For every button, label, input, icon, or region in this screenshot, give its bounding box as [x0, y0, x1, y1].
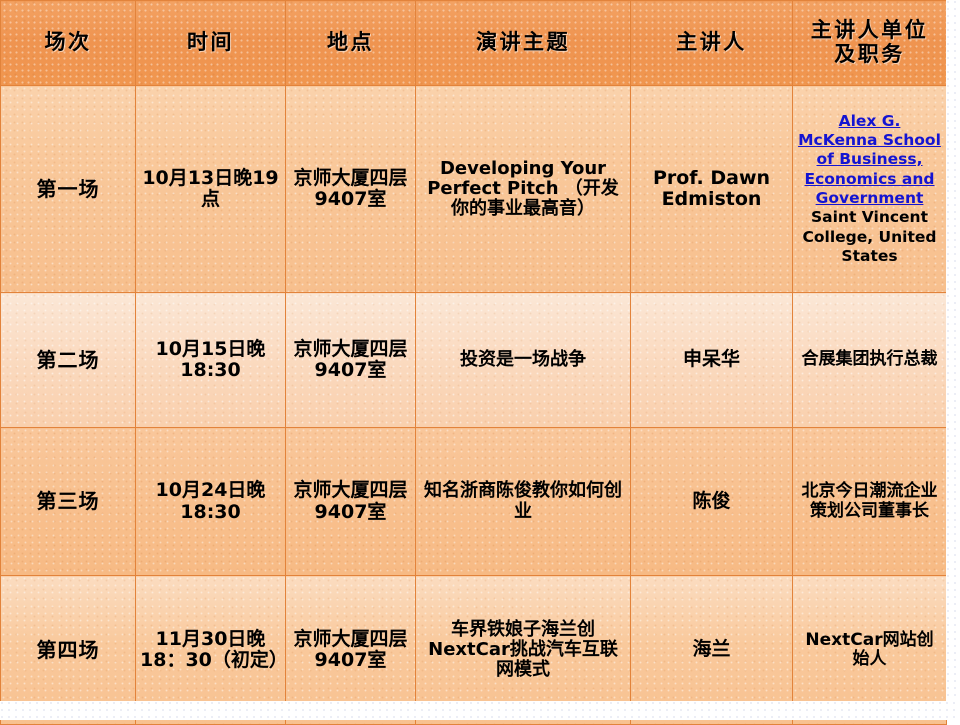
column-header-session: 场次	[1, 1, 136, 86]
slide-canvas: 场次 时间 地点 演讲主题 主讲人 主讲人单位 及职务 第一场 10月13日晚1…	[0, 0, 960, 720]
cell-venue: 京师大厦四层9407室	[286, 86, 416, 293]
cell-speaker: 申呆华	[631, 293, 793, 428]
cell-session: 第一场	[1, 86, 136, 293]
cell-organization: Alex G. McKenna School of Business, Econ…	[793, 86, 947, 293]
cell-organization: 合展集团执行总裁	[793, 293, 947, 428]
organization-link[interactable]: Alex G. McKenna School of Business, Econ…	[798, 112, 941, 208]
cell-speaker: Prof. Dawn Edmiston	[631, 86, 793, 293]
table-row: 第二场 10月15日晚18:30 京师大厦四层9407室 投资是一场战争 申呆华…	[1, 293, 947, 428]
cell-organization: 北京今日潮流企业策划公司董事长	[793, 428, 947, 576]
organization-text: Saint Vincent College, United States	[802, 208, 936, 265]
cell-speaker: 陈俊	[631, 428, 793, 576]
column-header-organization-line2: 及职务	[834, 42, 905, 66]
column-header-organization-line1: 主讲人单位	[811, 18, 929, 42]
column-header-topic: 演讲主题	[416, 1, 631, 86]
canvas-right-margin	[946, 0, 960, 720]
cell-venue: 京师大厦四层9407室	[286, 428, 416, 576]
cell-topic: Developing Your Perfect Pitch （开发你的事业最高音…	[416, 86, 631, 293]
table-row: 第三场 10月24日晚18:30 京师大厦四层9407室 知名浙商陈俊教你如何创…	[1, 428, 947, 576]
column-header-organization: 主讲人单位 及职务	[793, 1, 947, 86]
lecture-schedule-table: 场次 时间 地点 演讲主题 主讲人 主讲人单位 及职务 第一场 10月13日晚1…	[0, 0, 947, 725]
cell-topic: 投资是一场战争	[416, 293, 631, 428]
cell-session: 第二场	[1, 293, 136, 428]
cell-topic: 知名浙商陈俊教你如何创业	[416, 428, 631, 576]
cell-time: 10月15日晚18:30	[136, 293, 286, 428]
column-header-venue: 地点	[286, 1, 416, 86]
table-header-row: 场次 时间 地点 演讲主题 主讲人 主讲人单位 及职务	[1, 1, 947, 86]
table-row: 第一场 10月13日晚19点 京师大厦四层9407室 Developing Yo…	[1, 86, 947, 293]
column-header-speaker: 主讲人	[631, 1, 793, 86]
column-header-time: 时间	[136, 1, 286, 86]
cell-time: 10月24日晚18:30	[136, 428, 286, 576]
cell-time: 10月13日晚19点	[136, 86, 286, 293]
cell-venue: 京师大厦四层9407室	[286, 293, 416, 428]
canvas-bottom-margin	[0, 701, 960, 720]
cell-session: 第三场	[1, 428, 136, 576]
